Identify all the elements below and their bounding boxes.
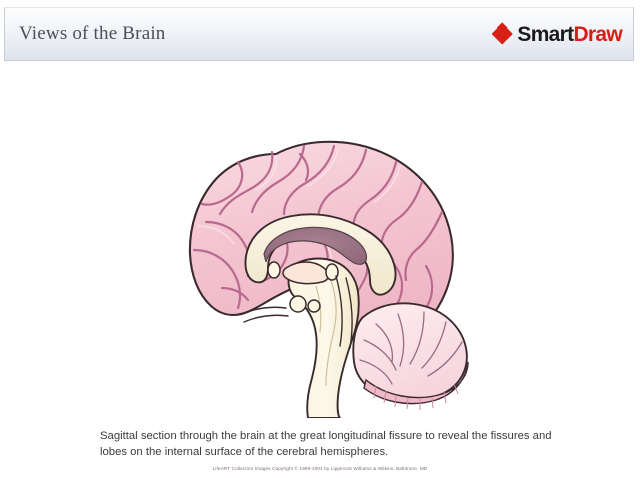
smartdraw-logo[interactable]: SmartDraw [492, 24, 622, 45]
logo-text-smart: Smart [517, 23, 573, 46]
sagittal-brain-svg [180, 118, 480, 418]
page-title: Views of the Brain [19, 23, 166, 45]
header-bar: Views of the Brain SmartDraw [4, 7, 634, 61]
copyright-credit: LifeART Collection Images Copyright © 19… [0, 466, 640, 471]
logo-text-draw: Draw [573, 23, 622, 46]
smartdraw-wordmark: SmartDraw [517, 24, 622, 45]
cerebellum-group [353, 303, 468, 410]
smartdraw-diamonds-icon [492, 25, 511, 44]
figure-caption: Sagittal section through the brain at th… [100, 428, 552, 460]
brain-illustration [180, 118, 480, 418]
